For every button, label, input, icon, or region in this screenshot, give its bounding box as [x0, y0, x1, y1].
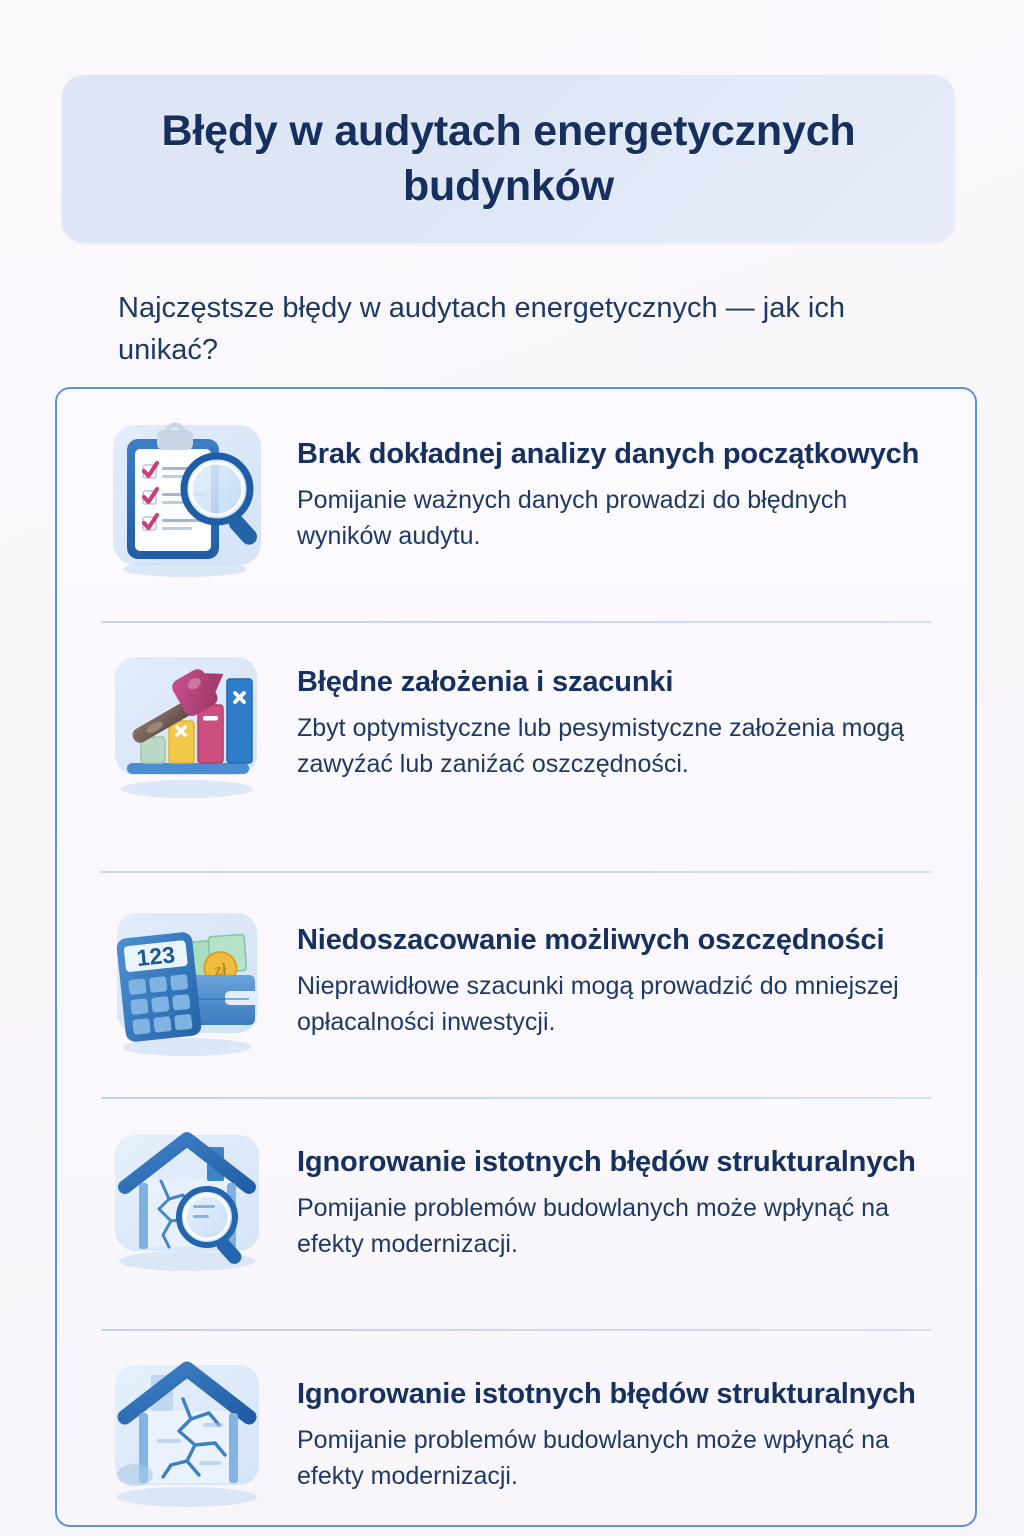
cracked-house-magnifier-icon: [99, 1121, 275, 1297]
item-text: Brak dokładnej analizy danych początkowy…: [297, 409, 945, 554]
mistakes-list: Brak dokładnej analizy danych początkowy…: [57, 389, 975, 1527]
item-text: Niedoszacowanie możliwych oszczędności N…: [297, 895, 945, 1040]
title-banner: Błędy w audytach energetycznych budynków: [62, 75, 955, 243]
calculator-wallet-money-icon: zł 123: [99, 899, 275, 1075]
svg-text:123: 123: [135, 941, 176, 971]
item-text: Ignorowanie istotnych błędów strukturaln…: [297, 1117, 945, 1262]
item-description: Zbyt optymistyczne lub pesymistyczne zał…: [297, 711, 945, 782]
list-item: Błędne założenia i szacunki Zbyt optymis…: [57, 623, 975, 871]
page-title: Błędy w audytach energetycznych budynków: [109, 104, 909, 213]
hammer-bar-chart-icon: [99, 641, 275, 817]
item-title: Ignorowanie istotnych błędów strukturaln…: [297, 1375, 945, 1413]
list-item: Brak dokładnej analizy danych początkowy…: [57, 389, 975, 621]
list-item: zł 123: [57, 873, 975, 1097]
item-text: Błędne założenia i szacunki Zbyt optymis…: [297, 637, 945, 782]
item-description: Pomijanie problemów budowlanych może wpł…: [297, 1423, 945, 1494]
item-text: Ignorowanie istotnych błędów strukturaln…: [297, 1349, 945, 1494]
list-item: Ignorowanie istotnych błędów strukturaln…: [57, 1331, 975, 1527]
page-subtitle: Najczęstsze błędy w audytach energetyczn…: [118, 288, 918, 372]
mistakes-list-card: Brak dokładnej analizy danych początkowy…: [55, 387, 977, 1527]
item-title: Brak dokładnej analizy danych początkowy…: [297, 435, 945, 473]
item-description: Pomijanie ważnych danych prowadzi do błę…: [297, 483, 945, 554]
list-item: Ignorowanie istotnych błędów strukturaln…: [57, 1099, 975, 1329]
item-description: Nieprawidłowe szacunki mogą prowadzić do…: [297, 969, 945, 1040]
item-title: Błędne założenia i szacunki: [297, 663, 945, 701]
cracked-house-icon: [99, 1353, 275, 1527]
item-title: Niedoszacowanie możliwych oszczędności: [297, 921, 945, 959]
item-description: Pomijanie problemów budowlanych może wpł…: [297, 1191, 945, 1262]
clipboard-checklist-magnifier-icon: [99, 413, 275, 589]
item-title: Ignorowanie istotnych błędów strukturaln…: [297, 1143, 945, 1181]
